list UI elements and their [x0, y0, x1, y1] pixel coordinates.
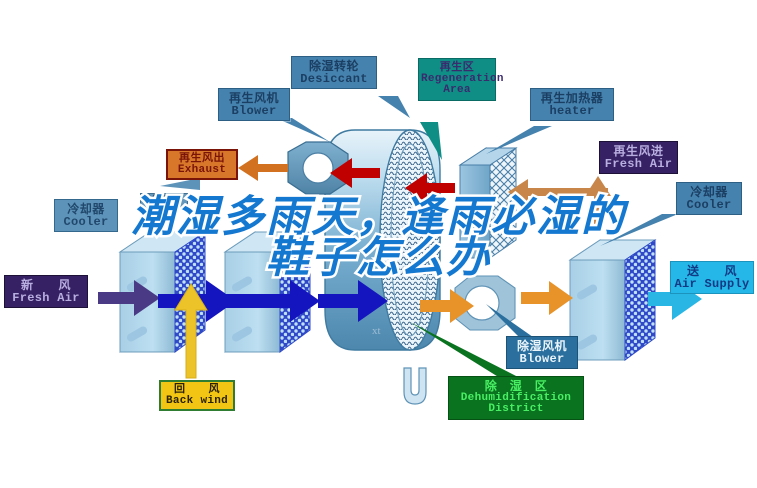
label-air-supply-en: Air Supply [673, 278, 751, 291]
label-fresh-air-cn: 新 风 [7, 279, 85, 292]
label-regen-area-cn: 再生区 [421, 62, 493, 74]
label-air-supply-cn: 送 风 [673, 265, 751, 278]
arrow-regen-up [585, 176, 611, 232]
diagram-canvas: xt [0, 0, 757, 488]
arrow-exhaust [238, 155, 288, 181]
cooler-unit-right [570, 240, 655, 360]
label-exhaust-cn: 再生风出 [170, 153, 234, 165]
label-regen-heater[interactable]: 再生加热器 heater [530, 88, 614, 121]
label-cooler-mid-cn: 冷却器 [143, 196, 185, 207]
label-cooler-left-cn: 冷却器 [57, 203, 115, 216]
regen-heater-unit [460, 148, 516, 258]
label-regen-in-en: Fresh Air [602, 158, 675, 171]
label-dehum-blower[interactable]: 除湿风机 Blower [506, 336, 578, 369]
label-exhaust[interactable]: 再生风出 Exhaust [166, 149, 238, 180]
label-regen-heater-cn: 再生加热器 [533, 92, 611, 105]
label-cooler-mid[interactable]: 冷却器 [140, 193, 188, 210]
label-back-wind[interactable]: 回 风 Back wind [159, 380, 235, 411]
label-regen-blower-cn: 再生风机 [221, 92, 287, 105]
label-desiccant-en: Desiccant [294, 73, 374, 86]
arrow-dehum-2 [521, 281, 573, 315]
label-cooler-left-en: Cooler [57, 216, 115, 229]
rotor-watermark: xt [372, 325, 381, 337]
label-dehum-area-cn: 除 湿 区 [451, 380, 581, 393]
label-fresh-air-en: Fresh Air [7, 292, 85, 305]
label-regen-blower[interactable]: 再生风机 Blower [218, 88, 290, 121]
label-regen-fresh-air-in[interactable]: 再生风进 Fresh Air [599, 141, 678, 174]
label-dehum-blower-en: Blower [509, 353, 575, 366]
diagram-artwork: xt [0, 0, 757, 488]
label-regen-in-cn: 再生风进 [602, 145, 675, 158]
label-cooler-right[interactable]: 冷却器 Cooler [676, 182, 742, 215]
label-cooler-right-cn: 冷却器 [679, 186, 739, 199]
label-regen-heater-en: heater [533, 105, 611, 118]
label-dehum-area-en: Dehumidification District [451, 393, 581, 416]
label-air-supply[interactable]: 送 风 Air Supply [670, 261, 754, 294]
label-regen-area-en: Regeneration Area [421, 74, 493, 97]
label-desiccant-cn: 除湿转轮 [294, 60, 374, 73]
label-cooler-left[interactable]: 冷却器 Cooler [54, 199, 118, 232]
label-fresh-air[interactable]: 新 风 Fresh Air [4, 275, 88, 308]
label-back-wind-cn: 回 风 [163, 384, 231, 396]
label-dehum-area[interactable]: 除 湿 区 Dehumidification District [448, 376, 584, 420]
label-desiccant[interactable]: 除湿转轮 Desiccant [291, 56, 377, 89]
label-regen-area[interactable]: 再生区 Regeneration Area [418, 58, 496, 101]
label-back-wind-en: Back wind [163, 396, 231, 408]
label-dehum-blower-cn: 除湿风机 [509, 340, 575, 353]
label-exhaust-en: Exhaust [170, 165, 234, 177]
label-regen-blower-en: Blower [221, 105, 287, 118]
label-cooler-right-en: Cooler [679, 199, 739, 212]
drain-chute [404, 368, 426, 404]
